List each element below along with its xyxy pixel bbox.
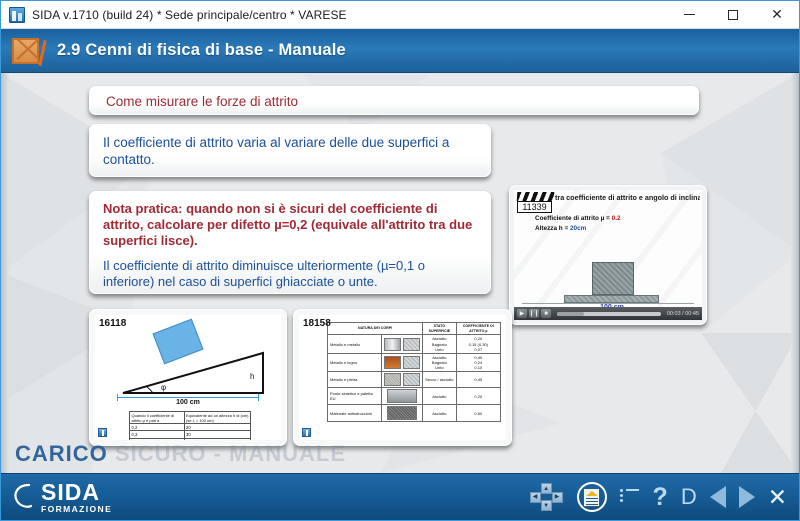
incline-ramp-drawing: φ h: [117, 337, 269, 393]
dictionary-button[interactable]: D: [681, 486, 697, 508]
cell-material-images: [381, 335, 423, 354]
video-controls-bar[interactable]: ▶ ❙❙ ■ 00:03 / 00:45: [514, 307, 702, 320]
cell-natura: Metallo e pietra: [328, 372, 382, 388]
table-row: Metallo e metallo Asciutto Bagnato Unto …: [328, 335, 501, 354]
video-play-button[interactable]: ▶: [517, 309, 527, 318]
cell-coefficiente: 0,20: [456, 388, 500, 405]
close-window-button[interactable]: ✕: [755, 1, 799, 29]
clapperboard-icon: 11339: [517, 192, 554, 214]
page-title: 2.9 Cenni di fisica di base - Manuale: [57, 41, 346, 60]
video-viewport[interactable]: 11339 tra coefficiente di attrito e ango…: [514, 190, 702, 320]
table-row: 0,220: [130, 424, 251, 431]
list-icon: [620, 489, 640, 505]
slide-paragraph-card: Il coefficiente di attrito varia al vari…: [89, 124, 491, 177]
video-coefficient-line: Coefficiente di attrito µ = 0.2: [535, 215, 621, 222]
logo-main-text: SIDA: [41, 481, 112, 504]
video-time-display: 00:03 / 00:45: [667, 311, 699, 317]
incline-table-header-0: Quando il coefficiente di attrito µ è pa…: [130, 412, 185, 424]
clapperboard-number: 11339: [517, 201, 552, 213]
mesh-sample-icon: [403, 338, 420, 351]
svg-text:φ: φ: [161, 383, 166, 392]
stage-left-rail: [1, 73, 9, 473]
dpad-down-button[interactable]: ▼: [541, 500, 552, 511]
cell-material-images: [381, 353, 423, 372]
help-button[interactable]: ?: [653, 485, 668, 510]
cell-stato: Asciutto: [423, 388, 456, 405]
video-coefficient-value: 0.2: [612, 215, 621, 222]
letter-d-icon: D: [681, 486, 697, 508]
cell-coefficiente: 0,40 0,24 0,10: [456, 353, 500, 372]
window-titlebar: SIDA v.1710 (build 24) * Sede principale…: [1, 1, 799, 29]
close-button[interactable]: ✕: [768, 486, 787, 509]
arrow-right-icon: [739, 486, 755, 508]
window-title: SIDA v.1710 (build 24) * Sede principale…: [32, 8, 347, 22]
cell-coefficiente: 0,60: [456, 405, 500, 422]
cell-material-images: [381, 405, 423, 422]
cell-coefficient: 0,4: [130, 438, 185, 440]
stage-right-rail: [791, 73, 799, 473]
cell-natura: Metallo e metallo: [328, 335, 382, 354]
incline-table-header-1: Equivalente ad un altezza h di (cm) (se …: [184, 412, 250, 424]
application-window: SIDA v.1710 (build 24) * Sede principale…: [0, 0, 800, 521]
antislip-sample-icon: [387, 406, 417, 420]
video-title-text: tra coefficiente di attrito e angolo di …: [555, 193, 700, 202]
video-stop-button[interactable]: ■: [541, 309, 551, 318]
friction-header-coeff: COEFFICIENTE DI ATTRITO µ: [456, 323, 500, 335]
video-height-line: Altezza h = 20cm: [535, 225, 586, 232]
video-coefficient-label: Coefficiente di attrito µ =: [535, 215, 612, 222]
video-block-shape: [592, 262, 634, 295]
table-row: Materiale antisdrucciolo Asciutto 0,60: [328, 405, 501, 422]
pallet-sample-icon: [387, 389, 417, 403]
incline-diagram-code: 16118: [99, 318, 126, 329]
window-controls: ✕: [667, 1, 799, 29]
mesh-sample-icon: [403, 356, 420, 369]
si-icon: [302, 428, 311, 437]
cell-height: 20: [184, 424, 250, 431]
cell-coefficient: 0,3: [130, 431, 185, 438]
close-icon: ✕: [771, 8, 783, 22]
video-height-value: 20cm: [570, 225, 586, 232]
swoosh-icon: [11, 482, 37, 512]
question-mark-icon: ?: [653, 485, 668, 510]
close-x-icon: ✕: [768, 486, 787, 509]
footer-bar: SIDA FORMAZIONE ▲ ▼ ◀ ▶ ?: [1, 473, 799, 520]
slide-paragraph-text: Il coefficiente di attrito varia al vari…: [90, 125, 490, 177]
sida-app-icon: [9, 7, 25, 23]
dpad-navigation[interactable]: ▲ ▼ ◀ ▶: [530, 483, 564, 511]
dpad-left-button[interactable]: ◀: [530, 492, 541, 503]
table-row: Metallo e pietra Secco / asciutto 0,45: [328, 372, 501, 388]
friction-coefficient-table: NATURA DEI CORPI STATO SUPERFICIE COEFFI…: [327, 322, 501, 422]
cell-height: 40: [184, 438, 250, 440]
index-list-button[interactable]: [620, 489, 640, 505]
video-progress-slider[interactable]: [557, 312, 661, 316]
video-progress-fill: [557, 312, 584, 316]
si-icon: [98, 428, 107, 437]
friction-header-stato: STATO SUPERFICIE: [423, 323, 456, 335]
slide-note-bold-text: Nota pratica: quando non si è sicuri del…: [90, 192, 490, 249]
friction-header-natura: NATURA DEI CORPI: [328, 323, 423, 335]
module-banner: 2.9 Cenni di fisica di base - Manuale: [1, 29, 799, 73]
crate-icon: [11, 36, 45, 66]
wood-sample-icon: [384, 356, 401, 369]
minimize-button[interactable]: [667, 1, 711, 29]
table-row: 0,440: [130, 438, 251, 440]
table-row: Metallo e legno Asciutto Bagnato Unto 0,…: [328, 353, 501, 372]
maximize-button[interactable]: [711, 1, 755, 29]
cell-stato: Asciutto Bagnato Unto: [423, 335, 456, 354]
cell-stato: Secco / asciutto: [423, 372, 456, 388]
slide-note-card: Nota pratica: quando non si è sicuri del…: [89, 191, 491, 294]
mesh-sample-icon: [403, 373, 420, 386]
friction-table-frame: 18158 NATURA DEI CORPI STATO SUPERFICIE …: [299, 315, 506, 440]
cell-natura: Ponte sintetico e paletta EU: [328, 388, 382, 405]
arrow-left-icon: [710, 486, 726, 508]
svg-text:h: h: [250, 372, 254, 381]
cell-coefficiente: 0,20 0,15 (0,30) 0,07: [456, 335, 500, 354]
table-header-row: NATURA DEI CORPI STATO SUPERFICIE COEFFI…: [328, 323, 501, 335]
stone-sample-icon: [384, 373, 401, 386]
dpad-up-button[interactable]: ▲: [541, 483, 552, 494]
video-player-card[interactable]: 11339 tra coefficiente di attrito e ango…: [509, 185, 707, 325]
cell-stato: Asciutto Bagnato Unto: [423, 353, 456, 372]
table-row: Ponte sintetico e paletta EU Asciutto 0,…: [328, 388, 501, 405]
incline-diagram-card[interactable]: 16118 φ h 100 cm Quando il coeffi: [89, 309, 287, 446]
dpad-right-button[interactable]: ▶: [552, 492, 563, 503]
cell-coefficient: 0,2: [130, 424, 185, 431]
friction-table-code: 18158: [303, 318, 331, 329]
video-pause-button[interactable]: ❙❙: [529, 309, 539, 318]
cell-stato: Asciutto: [423, 405, 456, 422]
table-row: 0,330: [130, 431, 251, 438]
cell-natura: Materiale antisdrucciolo: [328, 405, 382, 422]
table-header-row: Quando il coefficiente di attrito µ è pa…: [130, 412, 251, 424]
slide-heading-text: Come misurare le forze di attrito: [90, 87, 698, 116]
cell-material-images: [381, 388, 423, 405]
cell-coefficiente: 0,45: [456, 372, 500, 388]
cell-height: 30: [184, 431, 250, 438]
video-height-label: Altezza h =: [535, 225, 570, 232]
document-view-button[interactable]: [577, 482, 607, 512]
metal-sample-icon: [384, 338, 401, 351]
footer-toolbar: ▲ ▼ ◀ ▶ ? D: [530, 482, 787, 512]
previous-button[interactable]: [710, 486, 726, 508]
video-slab-shape: [564, 295, 659, 303]
document-icon: [583, 488, 600, 507]
cell-natura: Metallo e legno: [328, 353, 382, 372]
incline-conversion-table: Quando il coefficiente di attrito µ è pa…: [129, 411, 251, 440]
friction-table-card[interactable]: 18158 NATURA DEI CORPI STATO SUPERFICIE …: [293, 309, 512, 446]
cell-material-images: [381, 372, 423, 388]
maximize-icon: [728, 10, 738, 20]
incline-dimension-label: 100 cm: [117, 399, 259, 406]
sida-logo: SIDA FORMAZIONE: [11, 481, 112, 514]
slide-note-blue-text: Il coefficiente di attrito diminuisce ul…: [90, 249, 490, 290]
minimize-icon: [684, 14, 695, 15]
logo-sub-text: FORMAZIONE: [41, 505, 112, 514]
next-button[interactable]: [739, 486, 755, 508]
slide-stage: Come misurare le forze di attrito Il coe…: [1, 73, 799, 473]
incline-dimension-line: [117, 397, 259, 398]
incline-diagram-frame: 16118 φ h 100 cm Quando il coeffi: [95, 315, 281, 440]
slide-heading-card: Come misurare le forze di attrito: [89, 86, 699, 115]
